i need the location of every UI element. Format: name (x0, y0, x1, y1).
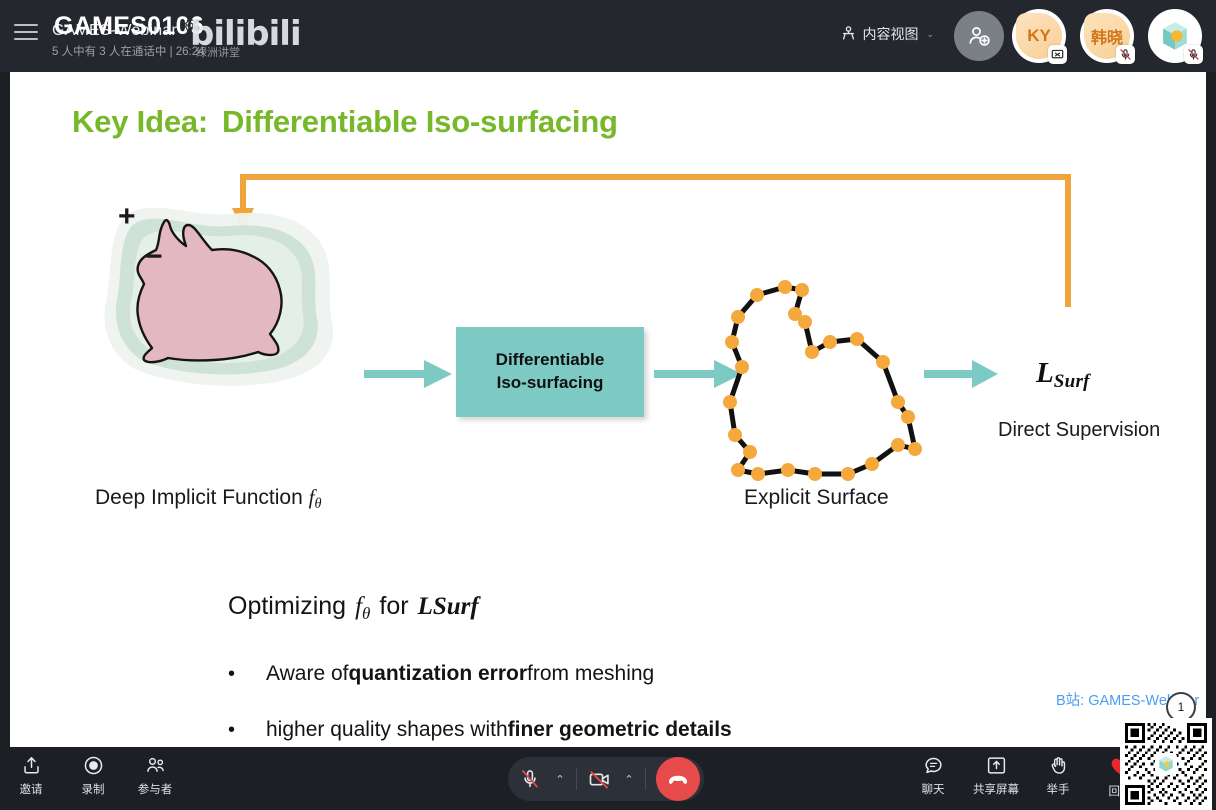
implicit-function-symbol: fθ (309, 485, 322, 509)
avatar-participant-1[interactable]: KY (1012, 9, 1066, 63)
call-controls: ⌃ ⌃ (508, 757, 704, 801)
view-mode-icon (841, 26, 856, 42)
implicit-function-label: Deep Implicit Function fθ (95, 485, 321, 513)
participants-button[interactable]: 参与者 (124, 755, 186, 797)
slide-title-prefix: Key Idea: (72, 104, 208, 139)
slide-title: Key Idea:Differentiable Iso-surfacing (72, 104, 618, 140)
record-button[interactable]: 录制 (62, 755, 124, 797)
bullet-marker: • (228, 719, 266, 742)
raise-hand-icon (1048, 755, 1069, 776)
proc-box-line2: Iso-surfacing (497, 372, 604, 395)
share-screen-button[interactable]: 共享屏幕 (965, 755, 1027, 797)
explicit-surface-polygon (710, 202, 960, 482)
share-screen-label: 共享屏幕 (973, 781, 1019, 797)
shared-slide: Key Idea:Differentiable Iso-surfacing + … (10, 72, 1206, 747)
end-call-button[interactable] (656, 757, 700, 801)
add-person-button[interactable] (954, 11, 1004, 61)
meeting-window: GAMES-Webinar 5 人中有 3 人在通话中 | 26:24 GAME… (0, 0, 1216, 810)
hangup-phone-icon (666, 767, 690, 791)
record-label: 录制 (82, 781, 105, 797)
arrow-surface-to-loss (922, 352, 1002, 396)
mic-options-chevron-icon[interactable]: ⌃ (548, 773, 572, 786)
qr-center-logo-icon (1155, 753, 1177, 775)
bullet-2-pre: higher quality shapes with (266, 718, 508, 742)
camera-toggle-button[interactable] (581, 761, 617, 797)
meeting-header: GAMES-Webinar 5 人中有 3 人在通话中 | 26:24 GAME… (0, 0, 1216, 72)
view-mode-label: 内容视图 (862, 24, 918, 44)
direct-supervision-label: Direct Supervision (998, 419, 1160, 442)
meeting-toolbar: 邀请 录制 参与者 (0, 747, 1216, 810)
participants-icon (145, 755, 166, 776)
meeting-status: 5 人中有 3 人在通话中 | 26:24 (52, 43, 372, 59)
bullet-marker: • (228, 663, 266, 686)
chevron-down-icon: ⌄ (926, 29, 934, 40)
implicit-function-label-text: Deep Implicit Function (95, 486, 303, 509)
screen-share-icon (986, 755, 1007, 776)
divider (576, 768, 577, 790)
meeting-title: GAMES-Webinar (52, 22, 372, 40)
proc-box-line1: Differentiable (496, 349, 605, 372)
bullet-1-bold: quantization error (349, 662, 528, 686)
implicit-function-illustration: + − (80, 180, 360, 400)
arrow-implicit-to-box (360, 352, 456, 396)
divider (645, 768, 646, 790)
add-person-icon (967, 24, 991, 48)
mic-muted-icon (1184, 45, 1203, 64)
bullet-1-post: from meshing (527, 662, 654, 686)
meeting-info: GAMES-Webinar 5 人中有 3 人在通话中 | 26:24 (52, 22, 372, 62)
participants-label: 参与者 (138, 781, 173, 797)
chat-icon (923, 755, 944, 776)
explicit-surface-label: Explicit Surface (744, 486, 889, 510)
surface-loss-symbol: LSurf (1036, 357, 1090, 393)
chat-label: 聊天 (922, 781, 945, 797)
differentiable-isosurfacing-box: Differentiable Iso-surfacing (456, 327, 644, 417)
mic-toggle-button[interactable] (512, 761, 548, 797)
camera-options-chevron-icon[interactable]: ⌃ (617, 773, 641, 786)
record-icon (83, 755, 104, 776)
hamburger-icon[interactable] (14, 24, 38, 40)
optimization-statement: Optimizing fθ for LSurf (228, 592, 479, 624)
bullet-item-1: • Aware of quantization error from meshi… (228, 662, 654, 686)
view-mode-selector[interactable]: 内容视图 ⌄ (841, 24, 934, 44)
mic-muted-icon (519, 768, 541, 790)
optimize-function-symbol: fθ (355, 593, 370, 624)
optimize-prefix: Optimizing (228, 592, 346, 621)
bullet-2-bold: finer geometric details (508, 718, 732, 742)
invite-button[interactable]: 邀请 (0, 755, 62, 797)
bullet-1-pre: Aware of (266, 662, 349, 686)
chat-button[interactable]: 聊天 (902, 755, 964, 797)
raise-hand-button[interactable]: 举手 (1027, 755, 1089, 797)
optimize-for-word: for (379, 592, 408, 621)
qr-code-overlay (1120, 718, 1212, 810)
camera-off-icon (588, 768, 611, 791)
raise-hand-label: 举手 (1047, 781, 1070, 797)
share-upload-icon (21, 755, 42, 776)
bullet-item-2: • higher quality shapes with finer geome… (228, 718, 732, 742)
invite-label: 邀请 (20, 781, 43, 797)
avatar-participant-3[interactable] (1148, 9, 1202, 63)
sdf-minus-label: − (145, 242, 163, 272)
screen-share-icon (1048, 45, 1067, 64)
optimize-loss-symbol: LSurf (418, 593, 479, 621)
mic-muted-icon (1116, 45, 1135, 64)
sdf-plus-label: + (118, 202, 136, 232)
slide-title-main: Differentiable Iso-surfacing (222, 104, 618, 139)
avatar-participant-2[interactable]: 韩晓 (1080, 9, 1134, 63)
